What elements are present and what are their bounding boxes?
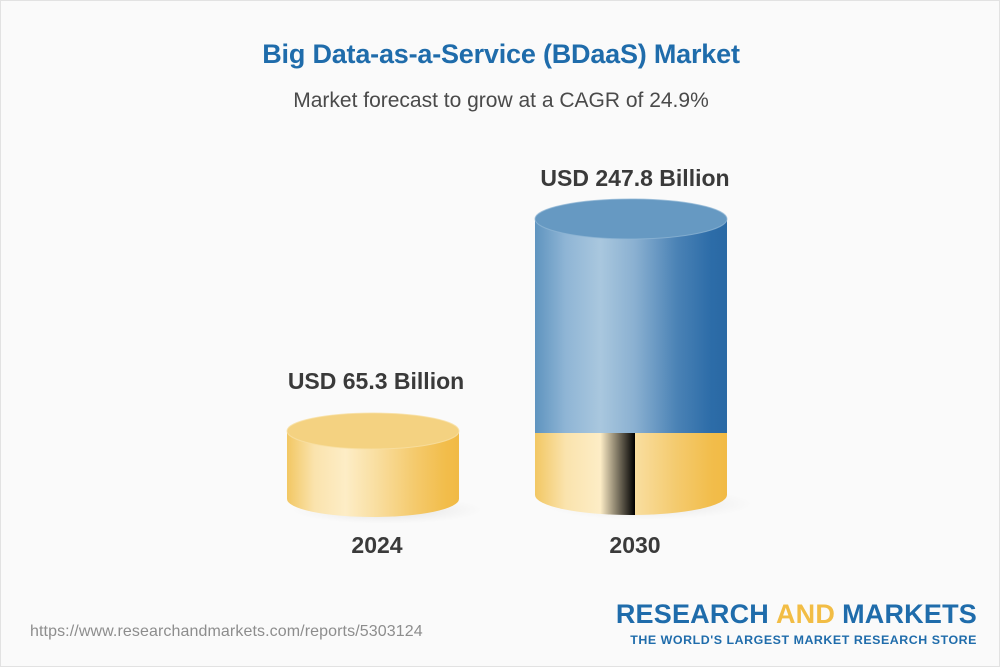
infographic-canvas: Big Data-as-a-Service (BDaaS) Market Mar… [0,0,1000,667]
logo-word-research: RESEARCH [616,599,769,629]
cylinder-base-segment-2030 [535,433,727,515]
axis-label-2024: 2024 [227,532,527,559]
logo-word-markets: MARKETS [842,599,977,629]
axis-label-2030: 2030 [485,532,785,559]
chart-plot-area: USD 247.8 Billion [1,1,1000,667]
research-and-markets-logo[interactable]: RESEARCHANDMARKETS THE WORLD'S LARGEST M… [616,601,977,646]
logo-tagline: THE WORLD'S LARGEST MARKET RESEARCH STOR… [616,634,977,646]
cylinder-bar-2030 [531,197,751,527]
source-url-link[interactable]: https://www.researchandmarkets.com/repor… [30,623,423,641]
cylinder-body-2030 [535,219,727,433]
value-label-2024: USD 65.3 Billion [196,368,556,395]
cylinder-bar-2024 [283,411,503,531]
value-label-2030: USD 247.8 Billion [455,165,815,192]
logo-word-and: AND [776,599,835,629]
logo-wordmark: RESEARCHANDMARKETS [616,601,977,628]
